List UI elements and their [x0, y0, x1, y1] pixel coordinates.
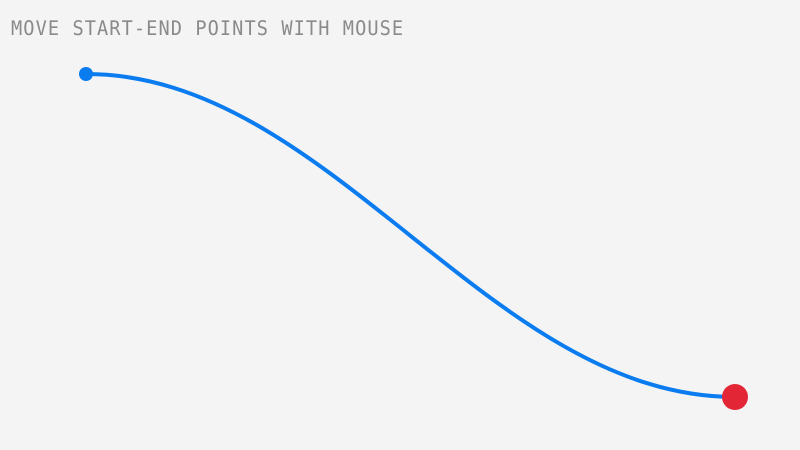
- bezier-canvas-stage[interactable]: MOVE START-END POINTS WITH MOUSE: [0, 0, 800, 450]
- bezier-curve-canvas: [0, 0, 800, 450]
- start-point-drag-target[interactable]: [75, 63, 97, 85]
- end-point-drag-target[interactable]: [718, 380, 752, 414]
- page-title: MOVE START-END POINTS WITH MOUSE: [11, 17, 404, 40]
